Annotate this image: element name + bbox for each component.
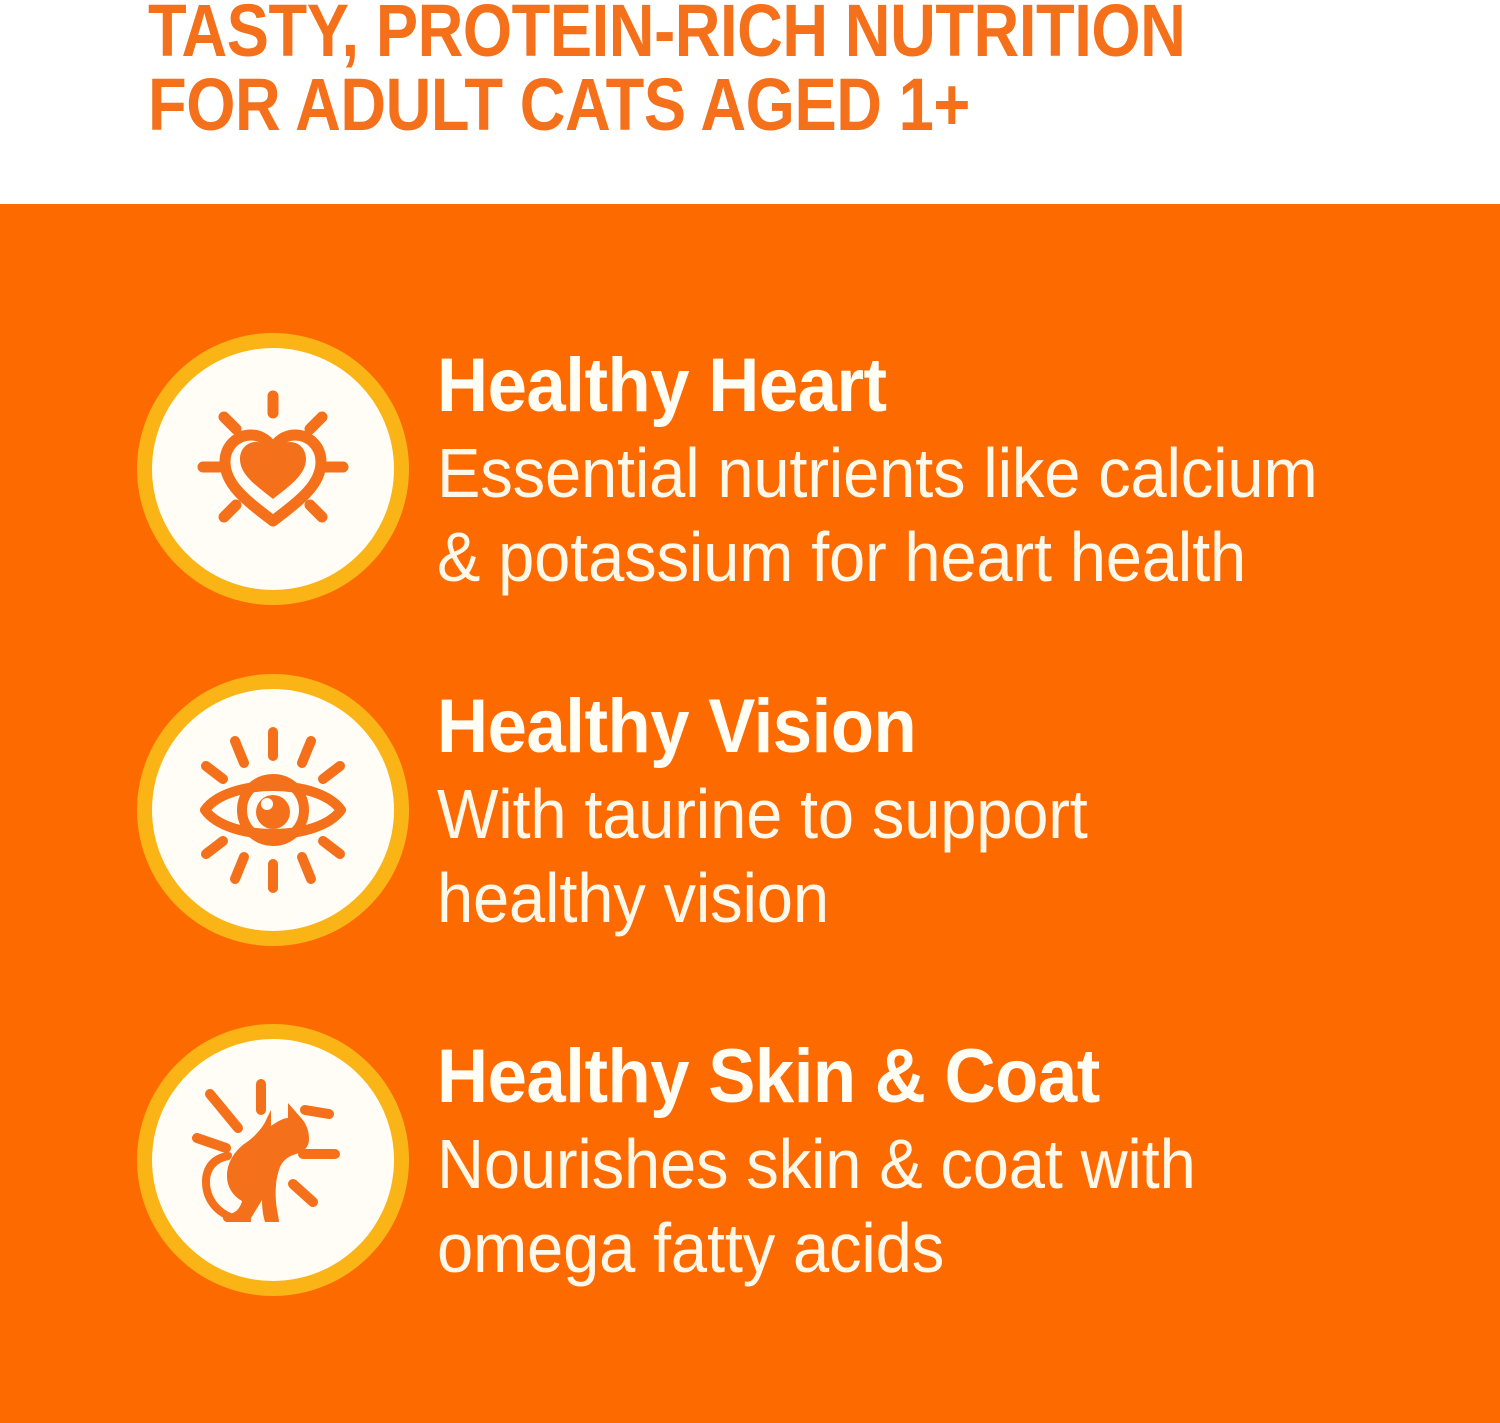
- promo-infographic: TASTY, PROTEIN-RICH NUTRITION FOR ADULT …: [0, 0, 1500, 1423]
- feature-badge: [137, 1024, 409, 1296]
- page-title: TASTY, PROTEIN-RICH NUTRITION FOR ADULT …: [148, 0, 1251, 142]
- cat-rays-icon: [183, 1070, 363, 1250]
- feature-title: Healthy Skin & Coat: [437, 1036, 1376, 1118]
- feature-description: With taurine to support healthy vision: [437, 772, 1376, 940]
- feature-text-block: Healthy Vision With taurine to support h…: [437, 674, 1447, 940]
- heart-rays-icon: [183, 379, 363, 559]
- feature-title: Healthy Heart: [437, 345, 1376, 427]
- feature-description: Essential nutrients like calcium & potas…: [437, 431, 1376, 599]
- feature-badge: [137, 333, 409, 605]
- feature-description: Nourishes skin & coat with omega fatty a…: [437, 1122, 1376, 1290]
- features-panel: Healthy Heart Essential nutrients like c…: [0, 204, 1500, 1423]
- eye-rays-icon: [183, 720, 363, 900]
- feature-text-block: Healthy Heart Essential nutrients like c…: [437, 333, 1447, 599]
- feature-text-block: Healthy Skin & Coat Nourishes skin & coa…: [437, 1024, 1447, 1290]
- feature-badge: [137, 674, 409, 946]
- feature-title: Healthy Vision: [437, 686, 1376, 768]
- header-band: TASTY, PROTEIN-RICH NUTRITION FOR ADULT …: [0, 0, 1500, 204]
